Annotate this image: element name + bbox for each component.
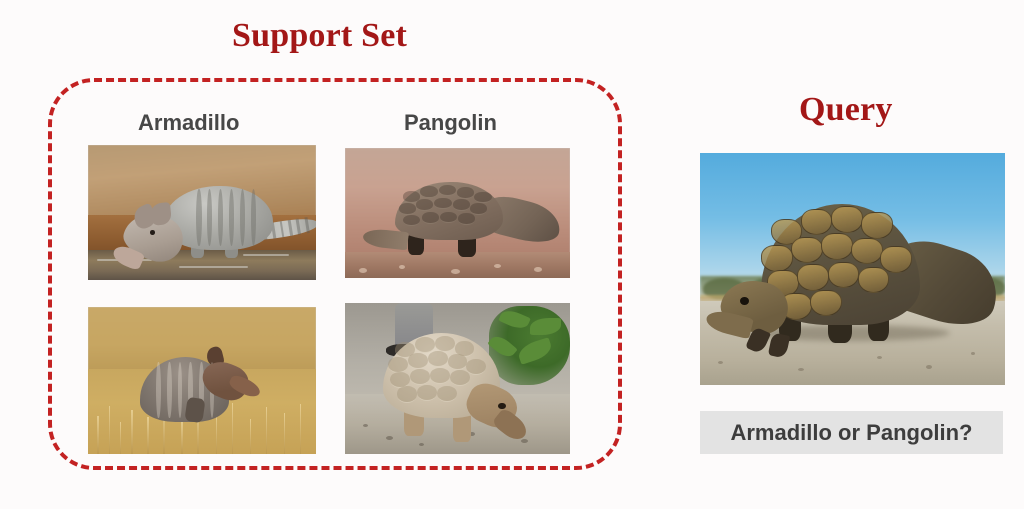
armadillo-grassland-scene: [88, 307, 316, 454]
support-image-armadillo-2: [88, 307, 316, 454]
pangolin-red-ground-scene: [345, 148, 570, 278]
support-image-pangolin-1: [345, 148, 570, 278]
class-label-armadillo: Armadillo: [138, 110, 239, 136]
query-answer-text: Armadillo or Pangolin?: [730, 420, 972, 446]
armadillo-drinking-scene: [88, 145, 316, 280]
pangolin-pale-scene: [345, 303, 570, 454]
pangolin-eye: [498, 403, 506, 410]
query-title: Query: [799, 91, 893, 129]
figure-canvas: Support Set Armadillo Pangolin: [0, 0, 1024, 509]
pangolin-body: [395, 182, 503, 241]
support-image-armadillo-1: [88, 145, 316, 280]
support-set-title: Support Set: [232, 17, 407, 55]
query-image: [700, 153, 1005, 385]
pangolin-eye: [740, 297, 749, 305]
support-image-pangolin-2: [345, 303, 570, 454]
query-answer-badge: Armadillo or Pangolin?: [700, 411, 1003, 454]
query-pangolin-scene: [700, 153, 1005, 385]
class-label-pangolin: Pangolin: [404, 110, 497, 136]
